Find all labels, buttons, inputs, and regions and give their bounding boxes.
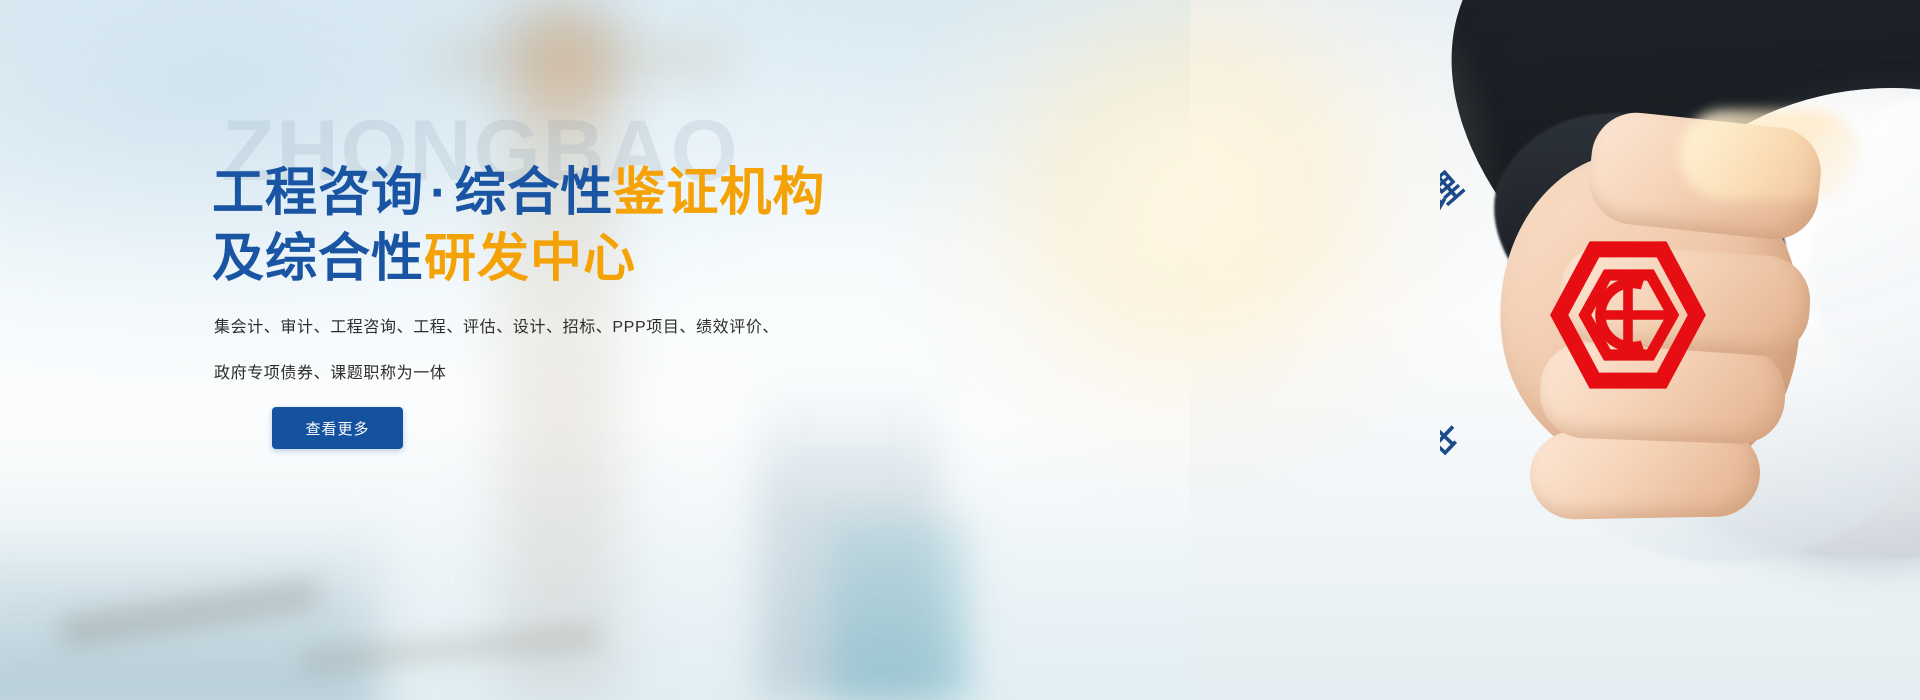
headline-l1-blue-b: 综合性 (454, 164, 613, 222)
headline-line-1: 工程咨询·综合性鉴证机构 (212, 160, 952, 226)
hero-content: ZHONGBAO 工程咨询·综合性鉴证机构 及综合性研发中心 集会计、审计、工程… (212, 0, 972, 700)
headline-l1-blue-a: 工程咨询 (212, 164, 424, 222)
headline: 工程咨询·综合性鉴证机构 及综合性研发中心 (212, 160, 952, 292)
headline-l2-blue: 及综合性 (212, 230, 424, 288)
description: 集会计、审计、工程咨询、工程、评估、设计、招标、PPP项目、绩效评价、 政府专项… (214, 305, 834, 398)
description-line-1: 集会计、审计、工程咨询、工程、评估、设计、招标、PPP项目、绩效评价、 (214, 305, 834, 351)
description-line-2: 政府专项债券、课题职称为一体 (214, 351, 834, 397)
zhongbao-hexagon-emblem-icon (1548, 235, 1708, 395)
headline-line-2: 及综合性研发中心 (212, 226, 952, 292)
hero-banner: 中 宝 工 程 管 理 ZHONGBAO 工程咨询·综合 (0, 0, 1920, 700)
helmet-logo: 中 宝 工 程 管 理 (1440, 160, 1760, 480)
logo-arc-text-content: 中 宝 工 程 管 理 (1440, 164, 1473, 463)
headline-separator: · (424, 164, 454, 222)
headline-l2-orange: 研发中心 (424, 230, 636, 288)
headline-l1-orange: 鉴证机构 (613, 164, 825, 222)
view-more-button[interactable]: 查看更多 (272, 407, 403, 449)
